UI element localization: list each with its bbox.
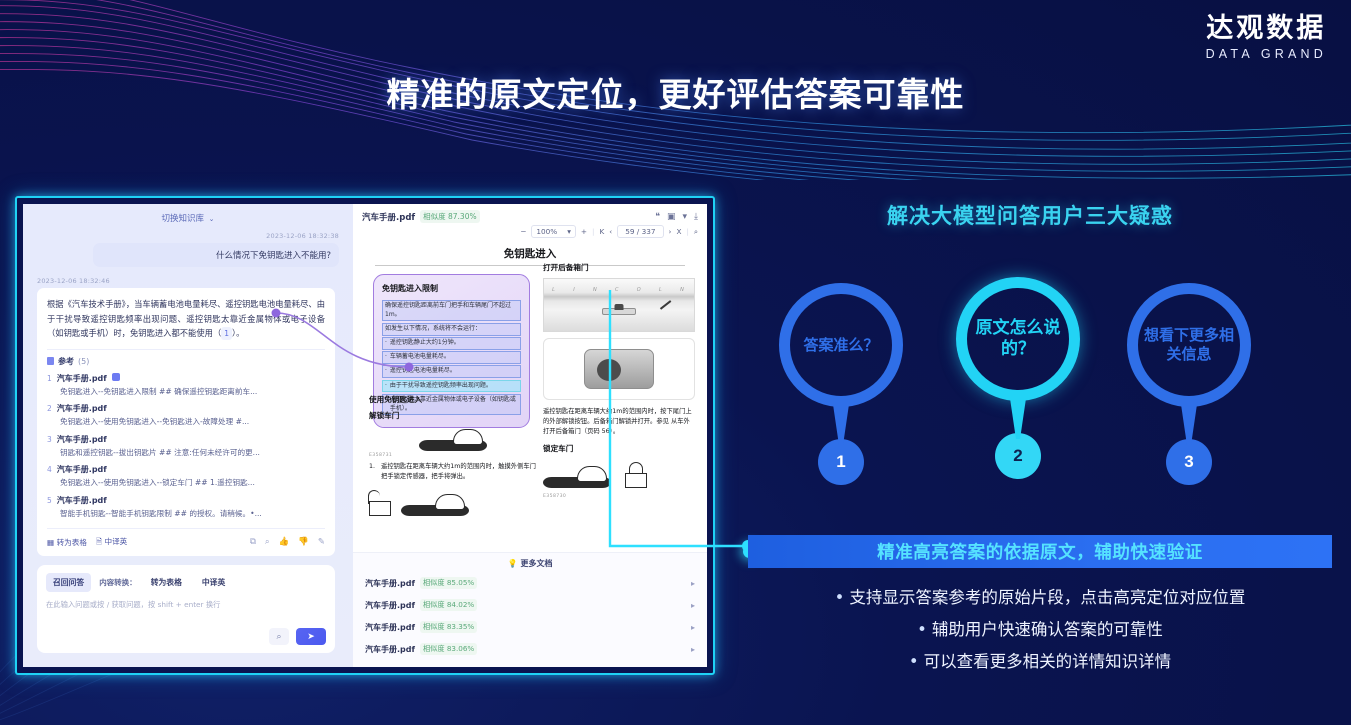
trunk-photo: LINCOLN xyxy=(543,278,695,332)
status-badge: 精准高亮答案的依据原文，辅助快速验证 xyxy=(748,535,1332,568)
references-header: 参考 (5) xyxy=(47,356,325,367)
message-composer: 召回问答 内容转换： 转为表格 中译英 在此输入问题或按 / 获取问题，按 sh… xyxy=(37,565,335,653)
pin-1-number: 1 xyxy=(818,439,864,485)
lightbulb-icon: 💡 xyxy=(508,559,518,568)
first-page-button[interactable]: K xyxy=(599,227,604,236)
reference-number: 5 xyxy=(47,496,52,505)
pdf-section-unlock: 解锁车门 xyxy=(369,410,537,421)
reference-number: 1 xyxy=(47,374,52,383)
bullet-list: •支持显示答案参考的原始片段，点击高亮定位对应位置 •辅助用户快速确认答案的可靠… xyxy=(748,582,1332,679)
pin-2: 原文怎么说的？ 2 xyxy=(956,277,1080,479)
kb-switch-label: 切换知识库 xyxy=(161,214,204,224)
copy-icon[interactable]: ⧉ xyxy=(250,537,256,547)
pdf-file-name: 汽车手册.pdf xyxy=(362,211,415,223)
translate-button[interactable]: 🗎 中译英 xyxy=(96,536,127,549)
bullet-text: 可以查看更多相关的详情知识详情 xyxy=(924,652,1172,671)
trunk-badge-letters: LINCOLN xyxy=(544,287,694,293)
pdf-search-icon[interactable]: ⌕ xyxy=(694,227,698,237)
bullet-icon: • xyxy=(909,652,919,671)
app-screenshot-frame: 切换知识库 ⌄ 2023-12-06 18:32:38 什么情况下免钥匙进入不能… xyxy=(15,196,715,675)
composer-input[interactable]: 在此输入问题或按 / 获取问题，按 shift + enter 换行 xyxy=(46,600,326,610)
page-indicator[interactable]: 59 / 337 xyxy=(617,225,663,238)
card-divider xyxy=(47,528,325,529)
list-item[interactable]: 3 汽车手册.pdf 钥匙和遥控钥匙--拔出钥匙片 ## 注意:任何未经许可的更… xyxy=(47,434,325,459)
table-row[interactable]: 汽车手册.pdf 相似度 85.05% ▸ xyxy=(353,572,707,594)
step-number: 1. xyxy=(369,462,375,482)
pdf-similarity-badge: 相似度 87.30% xyxy=(420,210,479,223)
hand-touch-icon xyxy=(401,494,469,516)
thumbs-down-icon[interactable]: 👎 xyxy=(298,537,309,547)
pin-3-stem xyxy=(1181,401,1198,445)
composer-mode-row: 召回问答 内容转换： 转为表格 中译英 xyxy=(46,573,326,592)
search-icon[interactable]: ⌕ xyxy=(265,537,270,547)
evidence-line: 如发生以下情况，系统将不会运行： xyxy=(382,323,521,336)
translate-label: 中译英 xyxy=(105,537,128,546)
more-documents-title: 💡更多文档 xyxy=(353,553,707,572)
reference-number: 2 xyxy=(47,404,52,413)
last-page-button[interactable]: X xyxy=(676,227,681,236)
table-row[interactable]: 汽车手册.pdf 相似度 83.35% ▸ xyxy=(353,616,707,638)
page-title: 精准的原文定位，更好评估答案可靠性 xyxy=(0,68,1351,116)
doc-similarity: 相似度 83.35% xyxy=(420,621,477,633)
more-documents-panel: 💡更多文档 汽车手册.pdf 相似度 85.05% ▸ 汽车手册.pdf 相似度… xyxy=(353,552,707,667)
doc-file-name: 汽车手册.pdf xyxy=(365,622,415,633)
to-table-button[interactable]: ▦ 转为表格 xyxy=(47,537,87,548)
reference-file: 汽车手册.pdf xyxy=(57,434,107,445)
reference-snippet: 智能手机钥匙--智能手机钥匙限制 ## 的授权。请稍候。•... xyxy=(60,509,325,520)
zoom-in-button[interactable]: + xyxy=(581,227,587,236)
pdf-step: 1. 遥控钥匙在距离车辆大约1m的范围内时，触摸外侧车门把手锁定传感器，把手将弹… xyxy=(369,462,537,482)
unlock-icon xyxy=(369,490,391,516)
pdf-section-lock: 锁定车门 xyxy=(543,443,695,454)
pdf-toolbar: − 100% ▾ + | K ‹ 59 / 337 › X | ⌕ xyxy=(353,225,707,242)
slide-root: 达观数据 DATA GRAND 精准的原文定位，更好评估答案可靠性 切换知识库 … xyxy=(0,0,1351,725)
reference-title: 1 汽车手册.pdf xyxy=(47,373,325,384)
hand-touch-icon xyxy=(543,466,611,488)
composer-actions: ⌕ ➤ xyxy=(269,628,326,645)
toolbar-divider: | xyxy=(592,227,594,236)
pdf-left-column: 使用免钥匙进入 解锁车门 E358731 1. 遥控钥匙在距离车辆大约1m的范围… xyxy=(369,394,537,516)
pin-1: 答案准么？ 1 xyxy=(779,283,903,485)
convert-to-table-button[interactable]: 转为表格 xyxy=(145,573,188,592)
reference-title: 2 汽车手册.pdf xyxy=(47,403,325,414)
mode-chip-recall-qa[interactable]: 召回问答 xyxy=(46,573,91,592)
evidence-bullet-text: 遥控钥匙电池电量耗尽。 xyxy=(390,367,456,376)
reference-title: 5 汽车手册.pdf xyxy=(47,495,325,506)
pdf-viewer-panel: 汽车手册.pdf 相似度 87.30% ❝ ▣ ▾ ⤓ − 100% ▾ + | xyxy=(353,204,707,667)
step-text: 遥控钥匙在距离车辆大约1m的范围内时，触摸外侧车门把手锁定传感器，把手将弹出。 xyxy=(381,462,537,482)
bot-answer-card: 根据《汽车技术手册》，当车辆蓄电池电量耗尽、遥控钥匙电池电量耗尽、由于干扰导致遥… xyxy=(37,288,335,556)
chevron-down-icon: ⌄ xyxy=(209,215,215,223)
thumbs-up-icon[interactable]: 👍 xyxy=(279,537,290,547)
hand-fingers xyxy=(435,494,465,510)
bullet-icon: • xyxy=(835,588,845,607)
lock-body xyxy=(369,501,391,516)
knowledge-base-switcher[interactable]: 切换知识库 ⌄ xyxy=(23,204,353,224)
edit-icon[interactable]: ✎ xyxy=(318,537,325,547)
doc-similarity: 相似度 83.06% xyxy=(420,643,477,655)
pdf-header: 汽车手册.pdf 相似度 87.30% ❝ ▣ ▾ ⤓ xyxy=(353,204,707,225)
bullet-text: 支持显示答案参考的原始片段，点击高亮定位对应位置 xyxy=(849,588,1245,607)
list-item[interactable]: 2 汽车手册.pdf 免钥匙进入--使用免钥匙进入--免钥匙进入-故障处理 #.… xyxy=(47,403,325,428)
reference-snippet: 钥匙和遥控钥匙--拔出钥匙片 ## 注意:任何未经许可的更... xyxy=(60,448,325,459)
doc-file-name: 汽车手册.pdf xyxy=(365,578,415,589)
bullet-icon: · xyxy=(385,353,387,362)
reference-file: 汽车手册.pdf xyxy=(57,373,107,384)
pin-2-number: 2 xyxy=(995,433,1041,479)
references-count: (5) xyxy=(78,357,89,366)
doc-similarity: 相似度 85.05% xyxy=(420,577,477,589)
brand-logo-cn: 达观数据 xyxy=(1206,14,1327,44)
document-icon xyxy=(47,357,54,365)
to-table-label: 转为表格 xyxy=(57,538,87,547)
chevron-down-icon[interactable]: ▾ xyxy=(682,212,687,222)
convert-label: 内容转换： xyxy=(99,577,137,588)
bullet-icon: • xyxy=(917,620,927,639)
pin-3-ring: 想看下更多相关信息 xyxy=(1127,283,1251,407)
reference-number: 3 xyxy=(47,435,52,444)
bot-answer-part-b: ）。 xyxy=(232,328,244,338)
hand-fingers xyxy=(453,429,483,445)
bullet-icon: · xyxy=(385,367,387,376)
table-row[interactable]: 汽车手册.pdf 相似度 83.06% ▸ xyxy=(353,638,707,660)
references-label: 参考 xyxy=(58,356,74,367)
pin-1-ring: 答案准么？ xyxy=(779,283,903,407)
pin-1-stem xyxy=(833,401,850,445)
evidence-bullet-text: 遥控钥匙静止大约1分钟。 xyxy=(390,339,460,348)
evidence-bullet: ·车辆蓄电池电量耗尽。 xyxy=(382,351,521,364)
download-icon[interactable]: ⤓ xyxy=(694,212,698,222)
reference-number: 4 xyxy=(47,465,52,474)
hand-fingers xyxy=(577,466,607,482)
toolbar-divider: | xyxy=(686,227,688,236)
convert-cn-to-en-button[interactable]: 中译英 xyxy=(196,573,231,592)
reference-file: 汽车手册.pdf xyxy=(57,495,107,506)
figure-id: E358731 xyxy=(369,453,537,458)
hand-touch-icon xyxy=(419,429,487,451)
evidence-bullet: ·遥控钥匙电池电量耗尽。 xyxy=(382,365,521,378)
evidence-bullet-text: 由于干扰导致遥控钥匙频率出现问题。 xyxy=(390,382,492,391)
chevron-right-icon[interactable]: ▸ xyxy=(691,601,695,610)
pdf-right-column: 打开后备箱门 LINCOLN 遥控钥匙在距离车辆大约1m的范围内时，按下尾门上的… xyxy=(543,262,695,499)
trunk-button-photo xyxy=(543,338,695,400)
bot-answer-text: 根据《汽车技术手册》，当车辆蓄电池电量耗尽、遥控钥匙电池电量耗尽、由于干扰导致遥… xyxy=(47,297,325,341)
next-page-button[interactable]: › xyxy=(669,227,672,236)
lock-body xyxy=(625,473,647,488)
trunk-paragraph: 遥控钥匙在距离车辆大约1m的范围内时，按下尾门上的外部解锁按钮。后备箱门解锁并打… xyxy=(543,407,695,436)
layout-icon[interactable]: ▣ xyxy=(667,212,676,222)
pdf-section-use: 使用免钥匙进入 xyxy=(369,394,537,405)
composer-search-icon[interactable]: ⌕ xyxy=(269,628,289,645)
send-button[interactable]: ➤ xyxy=(296,628,326,645)
doc-similarity: 相似度 84.02% xyxy=(420,599,477,611)
chevron-down-icon: ▾ xyxy=(567,227,571,236)
reference-file: 汽车手册.pdf xyxy=(57,464,107,475)
prev-page-button[interactable]: ‹ xyxy=(609,227,612,236)
trunk-release-button xyxy=(584,349,654,389)
list-item[interactable]: 1 汽车手册.pdf 免钥匙进入--免钥匙进入限制 ## 确保遥控钥匙距离前车.… xyxy=(47,373,325,398)
zoom-out-button[interactable]: − xyxy=(520,227,526,236)
more-documents-label: 更多文档 xyxy=(520,559,552,568)
reference-title: 4 汽车手册.pdf xyxy=(47,464,325,475)
active-reference-icon xyxy=(112,373,120,381)
pdf-page-title: 免钥匙进入 xyxy=(361,246,699,261)
pin-3-label: 想看下更多相关信息 xyxy=(1138,326,1240,364)
pin-2-ring: 原文怎么说的？ xyxy=(956,277,1080,401)
pin-3: 想看下更多相关信息 3 xyxy=(1127,283,1251,485)
bot-answer-part-a: 根据《汽车技术手册》，当车辆蓄电池电量耗尽、遥控钥匙电池电量耗尽、由于干扰导致遥… xyxy=(47,299,325,338)
brand-logo: 达观数据 DATA GRAND xyxy=(1206,14,1327,61)
citation-chip[interactable]: 1 xyxy=(221,327,232,340)
user-message-bubble: 什么情况下免钥匙进入不能用? xyxy=(93,243,339,267)
doc-file-name: 汽车手册.pdf xyxy=(365,600,415,611)
reference-file: 汽车手册.pdf xyxy=(57,403,107,414)
trunk-handle xyxy=(602,308,636,315)
doc-file-name: 汽车手册.pdf xyxy=(365,644,415,655)
zoom-level-value: 100% xyxy=(536,227,557,236)
bullet-icon: · xyxy=(385,382,387,391)
pin-2-stem xyxy=(1010,395,1027,439)
card-divider xyxy=(47,349,325,350)
reference-snippet: 免钥匙进入--使用免钥匙进入--免钥匙进入-故障处理 #... xyxy=(60,417,325,428)
list-item: •可以查看更多相关的详情知识详情 xyxy=(748,646,1332,678)
evidence-bullet-text: 车辆蓄电池电量耗尽。 xyxy=(390,353,450,362)
pointer-line xyxy=(660,300,671,309)
user-message-timestamp: 2023-12-06 18:32:38 xyxy=(23,224,353,243)
app-screenshot: 切换知识库 ⌄ 2023-12-06 18:32:38 什么情况下免钥匙进入不能… xyxy=(23,204,707,667)
list-item[interactable]: 5 汽车手册.pdf 智能手机钥匙--智能手机钥匙限制 ## 的授权。请稍候。•… xyxy=(47,495,325,520)
evidence-bullet: ·遥控钥匙静止大约1分钟。 xyxy=(382,337,521,350)
bullet-icon: · xyxy=(385,339,387,348)
reference-snippet: 免钥匙进入--使用免钥匙进入--锁定车门 ## 1.遥控钥匙... xyxy=(60,478,325,489)
chat-panel: 切换知识库 ⌄ 2023-12-06 18:32:38 什么情况下免钥匙进入不能… xyxy=(23,204,353,667)
evidence-heading: 免钥匙进入限制 xyxy=(382,283,521,294)
chevron-right-icon[interactable]: ▸ xyxy=(691,579,695,588)
evidence-bullet: ·由于干扰导致遥控钥匙频率出现问题。 xyxy=(382,380,521,393)
chevron-right-icon[interactable]: ▸ xyxy=(691,645,695,654)
list-item[interactable]: 4 汽车手册.pdf 免钥匙进入--使用免钥匙进入--锁定车门 ## 1.遥控钥… xyxy=(47,464,325,489)
bullet-text: 辅助用户快速确认答案的可靠性 xyxy=(932,620,1163,639)
list-item: •支持显示答案参考的原始片段，点击高亮定位对应位置 xyxy=(748,582,1332,614)
brand-logo-en: DATA GRAND xyxy=(1206,47,1327,61)
figure-id: E358730 xyxy=(543,494,695,499)
reference-snippet: 免钥匙进入--免钥匙进入限制 ## 确保遥控钥匙距离前车... xyxy=(60,387,325,398)
pdf-page-content: 免钥匙进入 免钥匙进入限制 确保遥控钥匙距离前车门把手和车辆尾门不超过1m。 如… xyxy=(353,246,707,552)
pin-1-label: 答案准么？ xyxy=(803,336,878,355)
section-title: 解决大模型问答用户三大疑惑 xyxy=(770,200,1290,230)
answer-toolbar: ▦ 转为表格 🗎 中译英 ⧉ ⌕ 👍 👎 ✎ xyxy=(47,536,325,549)
chevron-right-icon[interactable]: ▸ xyxy=(691,623,695,632)
bot-message-timestamp: 2023-12-06 18:32:46 xyxy=(23,267,353,288)
list-item: •辅助用户快速确认答案的可靠性 xyxy=(748,614,1332,646)
quote-icon[interactable]: ❝ xyxy=(655,212,660,222)
evidence-line: 确保遥控钥匙距离前车门把手和车辆尾门不超过1m。 xyxy=(382,300,521,321)
zoom-select[interactable]: 100% ▾ xyxy=(531,225,576,238)
pdf-section-trunk: 打开后备箱门 xyxy=(543,262,695,273)
pin-2-label: 原文怎么说的？ xyxy=(967,318,1069,361)
lock-icon xyxy=(625,462,647,488)
reference-title: 3 汽车手册.pdf xyxy=(47,434,325,445)
table-row[interactable]: 汽车手册.pdf 相似度 84.02% ▸ xyxy=(353,594,707,616)
pin-3-number: 3 xyxy=(1166,439,1212,485)
